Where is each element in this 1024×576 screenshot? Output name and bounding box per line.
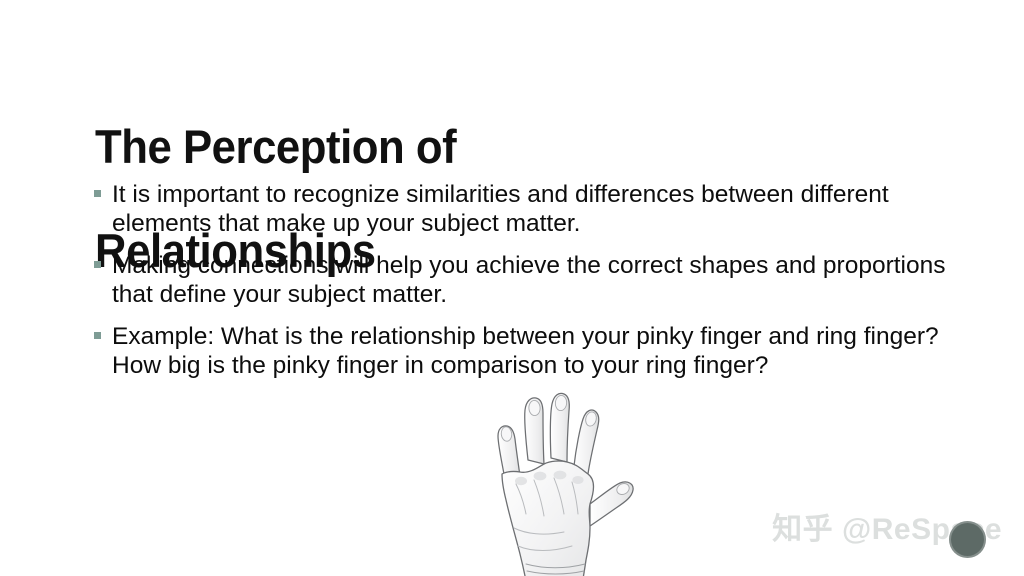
list-item-text: Making connections will help you achieve…	[112, 251, 970, 309]
page-title-line-1: The Perception of	[95, 121, 839, 173]
square-bullet-icon	[94, 261, 101, 268]
list-item-text: It is important to recognize similaritie…	[112, 180, 970, 238]
list-item: Example: What is the relationship betwee…	[90, 322, 970, 380]
watermark: 知乎 @ReSpace	[772, 508, 1002, 552]
list-item-text: Example: What is the relationship betwee…	[112, 322, 970, 380]
list-item: It is important to recognize similaritie…	[90, 180, 970, 238]
square-bullet-icon	[94, 332, 101, 339]
slide-canvas: The Perception of Relationships It is im…	[0, 0, 1024, 576]
hand-sketch-image	[468, 388, 648, 576]
bullet-list: It is important to recognize similaritie…	[90, 180, 970, 393]
square-bullet-icon	[94, 190, 101, 197]
list-item: Making connections will help you achieve…	[90, 251, 970, 309]
avatar	[949, 521, 986, 558]
